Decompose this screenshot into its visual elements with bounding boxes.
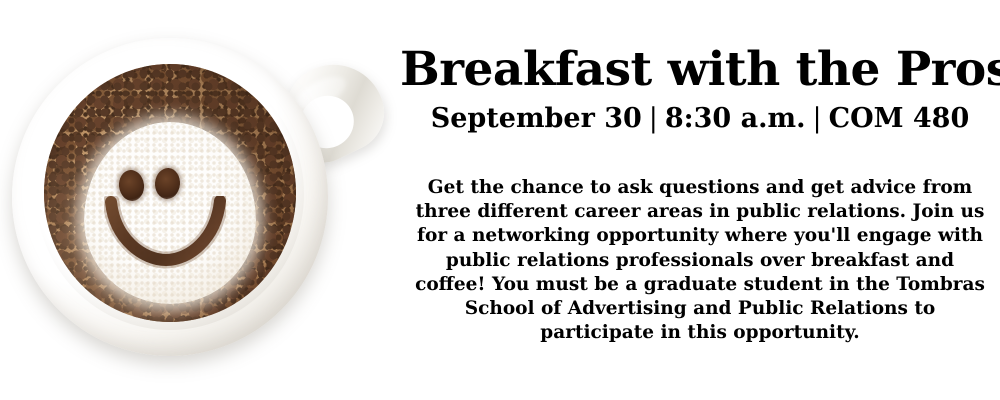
meta-separator-2: | [805,104,828,134]
event-description: Get the chance to ask questions and get … [412,176,988,345]
event-location: COM 480 [829,103,970,134]
event-text-block: Breakfast with the Pros September 30|8:3… [400,0,1000,400]
event-banner: Breakfast with the Pros September 30|8:3… [0,0,1000,400]
event-title: Breakfast with the Pros [400,46,1000,93]
event-date: September 30 [431,103,642,134]
event-meta: September 30|8:30 a.m.|COM 480 [400,104,1000,134]
coffee-cup-smiley-image [0,0,400,400]
smiley-mouth-icon [104,196,226,270]
event-time: 8:30 a.m. [665,103,806,134]
meta-separator-1: | [642,104,665,134]
